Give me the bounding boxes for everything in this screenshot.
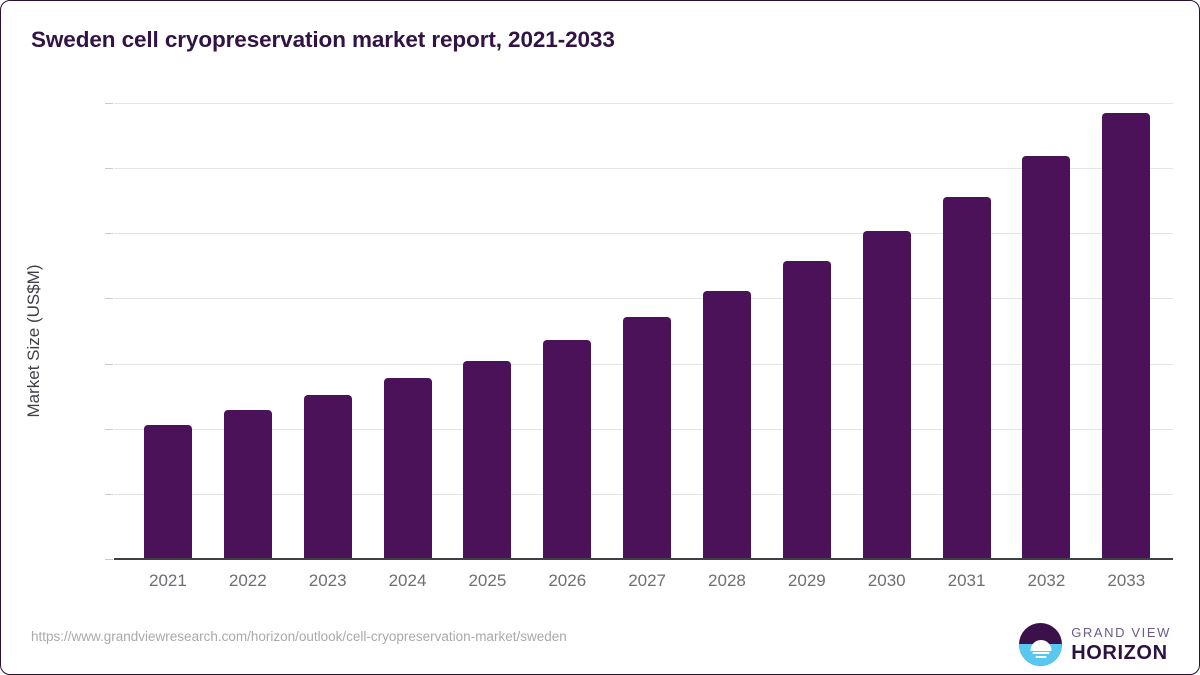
source-url[interactable]: https://www.grandviewresearch.com/horizo… <box>31 629 567 644</box>
y-tick-mark <box>105 494 113 495</box>
y-tick-mark <box>105 559 113 560</box>
x-tick-label: 2027 <box>602 571 692 591</box>
chart-figure: Sweden cell cryopreservation market repo… <box>0 0 1200 675</box>
bar[interactable] <box>543 340 591 559</box>
logo-sun-dome-shape <box>1030 640 1051 651</box>
y-axis: Market Size (US$M) 0255075100125150175 <box>1 1 101 675</box>
bar[interactable] <box>623 317 671 559</box>
x-tick-label: 2021 <box>123 571 213 591</box>
bar[interactable] <box>384 378 432 559</box>
logo-ray-lower <box>1035 656 1046 659</box>
x-tick-label: 2031 <box>922 571 1012 591</box>
x-tick-label: 2026 <box>522 571 612 591</box>
x-tick-label: 2022 <box>203 571 293 591</box>
x-tick-label: 2024 <box>363 571 453 591</box>
logo-line-grand-view: GRAND VIEW <box>1071 626 1171 639</box>
x-tick-label: 2032 <box>1001 571 1091 591</box>
logo-ray-upper <box>1032 652 1049 655</box>
y-tick-mark <box>105 364 113 365</box>
y-axis-title: Market Size (US$M) <box>24 141 44 541</box>
x-tick-label: 2033 <box>1081 571 1171 591</box>
gridline <box>114 233 1173 234</box>
x-tick-label: 2023 <box>283 571 373 591</box>
x-tick-label: 2029 <box>762 571 852 591</box>
gridline <box>114 298 1173 299</box>
logo-line-horizon: HORIZON <box>1071 643 1171 663</box>
gridline <box>114 168 1173 169</box>
bar[interactable] <box>783 261 831 559</box>
y-tick-mark <box>105 233 113 234</box>
grand-view-horizon-logo[interactable]: GRAND VIEW HORIZON <box>1019 621 1171 667</box>
bar[interactable] <box>863 231 911 559</box>
bar[interactable] <box>144 425 192 559</box>
x-tick-label: 2030 <box>842 571 932 591</box>
horizon-sun-circle-icon <box>1019 623 1062 666</box>
x-axis-baseline <box>114 558 1173 560</box>
y-tick-mark <box>105 168 113 169</box>
x-tick-label: 2025 <box>442 571 532 591</box>
x-tick-label: 2028 <box>682 571 772 591</box>
bar[interactable] <box>224 410 272 559</box>
y-tick-mark <box>105 298 113 299</box>
bar[interactable] <box>703 291 751 559</box>
bar[interactable] <box>1022 156 1070 559</box>
bar[interactable] <box>463 361 511 559</box>
bar[interactable] <box>1102 113 1150 559</box>
y-tick-mark <box>105 429 113 430</box>
page-title: Sweden cell cryopreservation market repo… <box>31 27 615 53</box>
logo-wordmark: GRAND VIEW HORIZON <box>1071 626 1171 663</box>
plot-area <box>114 103 1173 559</box>
bar[interactable] <box>943 197 991 559</box>
gridline <box>114 103 1173 104</box>
bar[interactable] <box>304 395 352 559</box>
y-tick-mark <box>105 103 113 104</box>
